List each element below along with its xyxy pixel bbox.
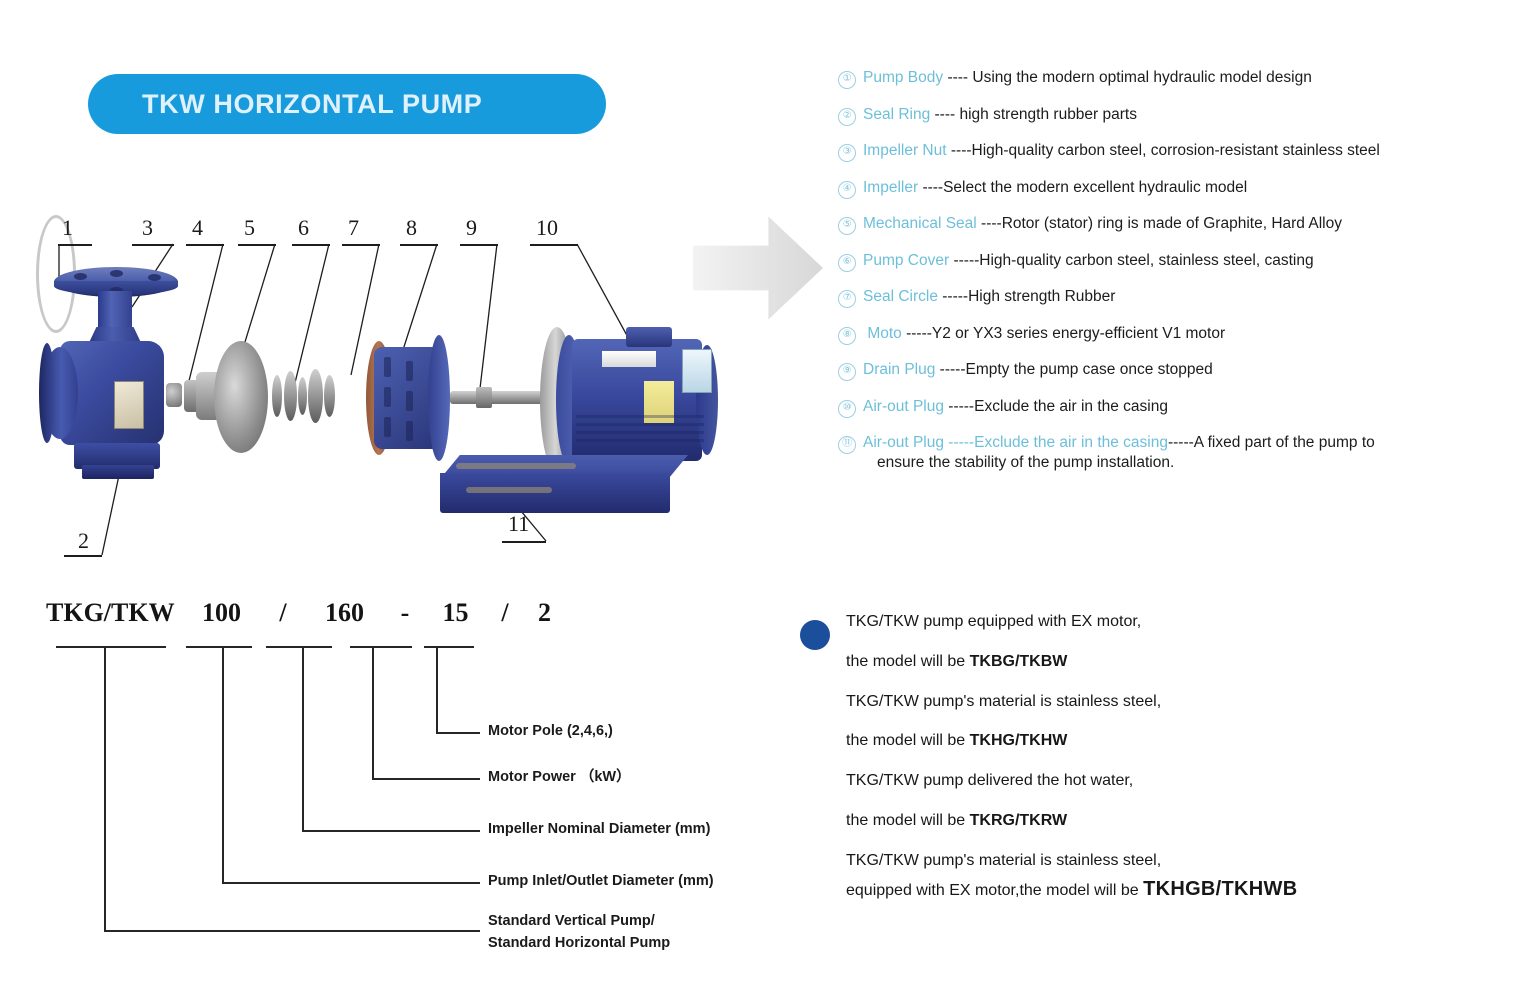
note-line-2: the model will be TKBG/TKBW: [846, 652, 1440, 673]
legend-item-11: ⑪ Air-out Plug -----Exclude the air in t…: [838, 433, 1498, 473]
legend-item-8: ⑧ Moto -----Y2 or YX3 series energy-effi…: [838, 324, 1498, 345]
legend-sep-4: ----: [918, 179, 943, 196]
note-line-3: TKG/TKW pump's material is stainless ste…: [846, 692, 1440, 713]
model-label-motor-pole: Motor Pole (2,4,6,): [488, 722, 613, 742]
legend-sep-10: -----: [944, 398, 974, 415]
legend-text-5: Mechanical Seal ----Rotor (stator) ring …: [863, 214, 1342, 234]
legend-desc-3: High-quality carbon steel, corrosion-res…: [972, 142, 1380, 159]
legend-sep-5: ----: [977, 215, 1002, 232]
note-text-6: the model will be: [846, 812, 970, 829]
legend-desc-10: Exclude the air in the casing: [974, 398, 1168, 415]
leader-tick-7: [342, 244, 380, 246]
note-line-1: TKG/TKW pump equipped with EX motor,: [846, 612, 1440, 633]
motor-brand-label: [602, 351, 656, 367]
legend-item-2: ② Seal Ring ---- high strength rubber pa…: [838, 105, 1498, 126]
leader-tick-6: [292, 244, 330, 246]
legend-desc-2: high strength rubber parts: [959, 106, 1137, 123]
motor-shaft-step: [476, 387, 492, 408]
model-token-power: 15: [429, 598, 483, 628]
legend-sep-11: -----: [944, 434, 974, 451]
legend-part-name-6: Pump Cover: [863, 252, 949, 269]
legend-desc-7: High strength Rubber: [968, 288, 1115, 305]
legend-text-8: Moto -----Y2 or YX3 series energy-effici…: [863, 324, 1225, 344]
model-label-impeller-dia: Impeller Nominal Diameter (mm): [488, 820, 710, 840]
note-text-2: the model will be: [846, 653, 970, 670]
seal-element-2: [284, 371, 297, 421]
legend-text-6: Pump Cover -----High-quality carbon stee…: [863, 251, 1314, 271]
legend-item-10: ⑩ Air-out Plug -----Exclude the air in t…: [838, 397, 1498, 418]
seal-element-1: [272, 375, 282, 417]
legend-item-3: ③ Impeller Nut ----High-quality carbon s…: [838, 141, 1498, 162]
poster-canvas: TKW HORIZONTAL PUMP 1 3 4 5 6 7 8 9 10 2…: [0, 0, 1513, 1000]
legend-item-7: ⑦ Seal Circle -----High strength Rubber: [838, 287, 1498, 308]
legend-sep-2: ----: [930, 106, 959, 123]
impeller-part: [214, 341, 268, 453]
legend-part-name-8: Moto: [867, 325, 901, 342]
legend-sep-7: -----: [938, 288, 968, 305]
callout-number-6: 6: [298, 215, 309, 241]
legend-number-11: ⑪: [838, 436, 856, 454]
note-line-8: equipped with EX motor,the model will be…: [846, 876, 1440, 902]
pump-cover-flange: [428, 335, 450, 461]
base-plate-front: [440, 473, 670, 513]
motor-data-tag: [682, 349, 712, 393]
note-model-8: TKHGB/TKHWB: [1143, 878, 1297, 900]
legend-number-6: ⑥: [838, 254, 856, 272]
legend-text-1: Pump Body ---- Using the modern optimal …: [863, 68, 1312, 88]
legend-sep-3: ----: [947, 142, 972, 159]
note-model-2: TKBG/TKBW: [970, 653, 1068, 670]
pump-nameplate: [114, 381, 144, 429]
model-drop-impeller: [302, 646, 304, 832]
legend-number-9: ⑨: [838, 363, 856, 381]
legend-number-3: ③: [838, 144, 856, 162]
note-line-6: the model will be TKRG/TKRW: [846, 811, 1440, 832]
legend-text-7: Seal Circle -----High strength Rubber: [863, 287, 1115, 307]
legend-sep2-11: -----: [1168, 434, 1194, 451]
leader-tick-2: [64, 555, 102, 557]
legend-sep-9: -----: [935, 361, 965, 378]
motor-terminal-box: [626, 327, 672, 347]
model-code-row: TKG/TKW 100 / 160 - 15 / 2: [46, 598, 562, 628]
callout-number-2: 2: [78, 528, 89, 554]
model-underline-pole: [424, 646, 474, 648]
legend-sep-1: ----: [943, 69, 972, 86]
model-token-inlet: 100: [185, 598, 259, 628]
pump-foot: [82, 465, 154, 479]
legend-part-name-5: Mechanical Seal: [863, 215, 977, 232]
model-drop-inlet: [222, 646, 224, 884]
callout-number-11: 11: [508, 511, 529, 537]
legend-text-11: Air-out Plug -----Exclude the air in the…: [863, 433, 1375, 473]
model-naming-notes: TKG/TKW pump equipped with EX motor, the…: [800, 612, 1440, 921]
leader-tick-3: [132, 244, 174, 246]
legend-text-10: Air-out Plug -----Exclude the air in the…: [863, 397, 1168, 417]
legend-item-9: ⑨ Drain Plug -----Empty the pump case on…: [838, 360, 1498, 381]
note-text-4: the model will be: [846, 732, 970, 749]
leader-tick-11: [502, 541, 546, 543]
leader-tick-8: [400, 244, 438, 246]
model-label-standard-horiz: Standard Horizontal Pump: [488, 934, 670, 954]
legend-text-9: Drain Plug -----Empty the pump case once…: [863, 360, 1213, 380]
legend-sep-6: -----: [949, 252, 979, 269]
model-run-series: [104, 930, 480, 932]
note-model-6: TKRG/TKRW: [970, 812, 1067, 829]
model-drop-series: [104, 646, 106, 932]
pump-casing-rim: [39, 343, 55, 443]
note-text-1: TKG/TKW pump equipped with EX motor,: [846, 613, 1141, 630]
leader-tick-10: [530, 244, 578, 246]
callout-number-10: 10: [536, 215, 558, 241]
model-run-inlet: [222, 882, 480, 884]
legend-part-name-10: Air-out Plug: [863, 398, 944, 415]
model-run-impeller: [302, 830, 480, 832]
legend-part-name-11: Air-out Plug: [863, 434, 944, 451]
note-text-8: equipped with EX motor,the model will be: [846, 882, 1143, 899]
model-drop-power: [372, 646, 374, 780]
note-line-5: TKG/TKW pump delivered the hot water,: [846, 771, 1440, 792]
leader-tick-1: [58, 244, 92, 246]
legend-sep-8: -----: [902, 325, 932, 342]
legend-part-name-1: Pump Body: [863, 69, 943, 86]
leader-tick-4: [186, 244, 224, 246]
callout-number-7: 7: [348, 215, 359, 241]
seal-element-5: [324, 375, 335, 417]
model-run-pole: [436, 732, 480, 734]
legend-desc-4: Select the modern excellent hydraulic mo…: [943, 179, 1247, 196]
exploded-pump-figure: 1 3 4 5 6 7 8 9 10 2 11: [36, 215, 696, 560]
model-token-series: TKG/TKW: [46, 598, 178, 628]
note-text-5: TKG/TKW pump delivered the hot water,: [846, 772, 1133, 789]
legend-desc-6: High-quality carbon steel, stainless ste…: [979, 252, 1313, 269]
leader-tick-5: [238, 244, 276, 246]
legend-number-4: ④: [838, 181, 856, 199]
right-arrow-icon: [693, 212, 823, 324]
legend-item-4: ④ Impeller ----Select the modern excelle…: [838, 178, 1498, 199]
legend-text-4: Impeller ----Select the modern excellent…: [863, 178, 1247, 198]
model-token-slash-1: /: [265, 598, 301, 628]
callout-number-8: 8: [406, 215, 417, 241]
model-token-dash: -: [388, 598, 422, 628]
legend-number-2: ②: [838, 108, 856, 126]
model-label-motor-power: Motor Power （kW）: [488, 768, 631, 788]
model-underline-series: [56, 646, 166, 648]
legend-part-name-7: Seal Circle: [863, 288, 938, 305]
bullet-dot-icon: [800, 620, 830, 650]
model-label-inlet-dia: Pump Inlet/Outlet Diameter (mm): [488, 872, 714, 892]
callout-number-4: 4: [192, 215, 203, 241]
note-line-4: the model will be TKHG/TKHW: [846, 731, 1440, 752]
model-run-power: [372, 778, 480, 780]
seal-element-3: [298, 377, 307, 415]
note-text-3: TKG/TKW pump's material is stainless ste…: [846, 693, 1161, 710]
note-text-7: TKG/TKW pump's material is stainless ste…: [846, 852, 1161, 869]
legend-desc-9: Empty the pump case once stopped: [966, 361, 1213, 378]
legend-number-7: ⑦: [838, 290, 856, 308]
model-underline-impeller: [266, 646, 332, 648]
legend-desc-11-line2: ensure the stability of the pump install…: [877, 453, 1375, 473]
notes-body: TKG/TKW pump equipped with EX motor, the…: [846, 612, 1440, 902]
callout-number-5: 5: [244, 215, 255, 241]
legend-number-10: ⑩: [838, 400, 856, 418]
legend-part-name-4: Impeller: [863, 179, 918, 196]
legend-item-6: ⑥ Pump Cover -----High-quality carbon st…: [838, 251, 1498, 272]
legend-number-1: ①: [838, 71, 856, 89]
note-line-7: TKG/TKW pump's material is stainless ste…: [846, 851, 1440, 872]
title-banner: TKW HORIZONTAL PUMP: [88, 74, 606, 134]
legend-text-3: Impeller Nut ----High-quality carbon ste…: [863, 141, 1380, 161]
legend-part-name-9: Drain Plug: [863, 361, 935, 378]
model-drop-pole: [436, 646, 438, 734]
model-code-diagram: TKG/TKW 100 / 160 - 15 / 2 Motor Pol: [36, 598, 736, 968]
legend-item-5: ⑤ Mechanical Seal ----Rotor (stator) rin…: [838, 214, 1498, 235]
callout-number-1: 1: [62, 215, 73, 241]
legend-number-8: ⑧: [838, 327, 856, 345]
seal-element-4: [308, 369, 323, 423]
callout-number-3: 3: [142, 215, 153, 241]
legend-cyan-desc-11: Exclude the air in the casing: [974, 434, 1168, 451]
page-title: TKW HORIZONTAL PUMP: [142, 89, 482, 120]
model-token-impeller: 160: [308, 598, 382, 628]
legend-desc-8: Y2 or YX3 series energy-efficient V1 mot…: [932, 325, 1225, 342]
model-token-slash-2: /: [489, 598, 521, 628]
legend-desc-5: Rotor (stator) ring is made of Graphite,…: [1002, 215, 1342, 232]
legend-desc-1: Using the modern optimal hydraulic model…: [972, 69, 1311, 86]
legend-part-name-3: Impeller Nut: [863, 142, 947, 159]
note-model-4: TKHG/TKHW: [970, 732, 1068, 749]
model-label-standard-vert: Standard Vertical Pump/: [488, 912, 655, 932]
model-underline-inlet: [186, 646, 252, 648]
legend-part-name-2: Seal Ring: [863, 106, 930, 123]
model-underline-power: [350, 646, 412, 648]
callout-number-9: 9: [466, 215, 477, 241]
model-token-pole: 2: [528, 598, 562, 628]
legend-text-2: Seal Ring ---- high strength rubber part…: [863, 105, 1137, 125]
leader-tick-9: [460, 244, 498, 246]
parts-legend: ① Pump Body ---- Using the modern optima…: [838, 68, 1498, 488]
legend-item-1: ① Pump Body ---- Using the modern optima…: [838, 68, 1498, 89]
impeller-nut-part: [166, 383, 182, 407]
legend-number-5: ⑤: [838, 217, 856, 235]
legend-desc-11: A fixed part of the pump to: [1194, 434, 1375, 451]
